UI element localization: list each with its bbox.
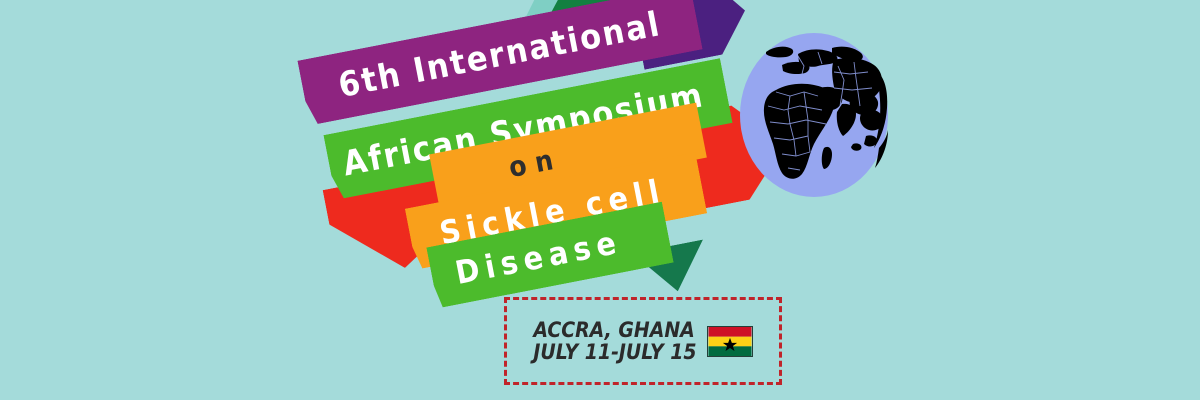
globe-africa-icon: [738, 32, 890, 198]
title-text-line-3: on: [506, 141, 565, 184]
venue-text-group: ACCRA, GHANA JULY 11-JULY 15: [533, 319, 696, 363]
venue-info-box: ACCRA, GHANA JULY 11-JULY 15: [504, 297, 782, 385]
venue-location: ACCRA, GHANA: [533, 319, 696, 341]
event-banner: 6th International African Symposium on S…: [0, 0, 1200, 400]
ghana-flag-icon: [707, 326, 753, 357]
venue-dates: JULY 11-JULY 15: [533, 341, 696, 363]
